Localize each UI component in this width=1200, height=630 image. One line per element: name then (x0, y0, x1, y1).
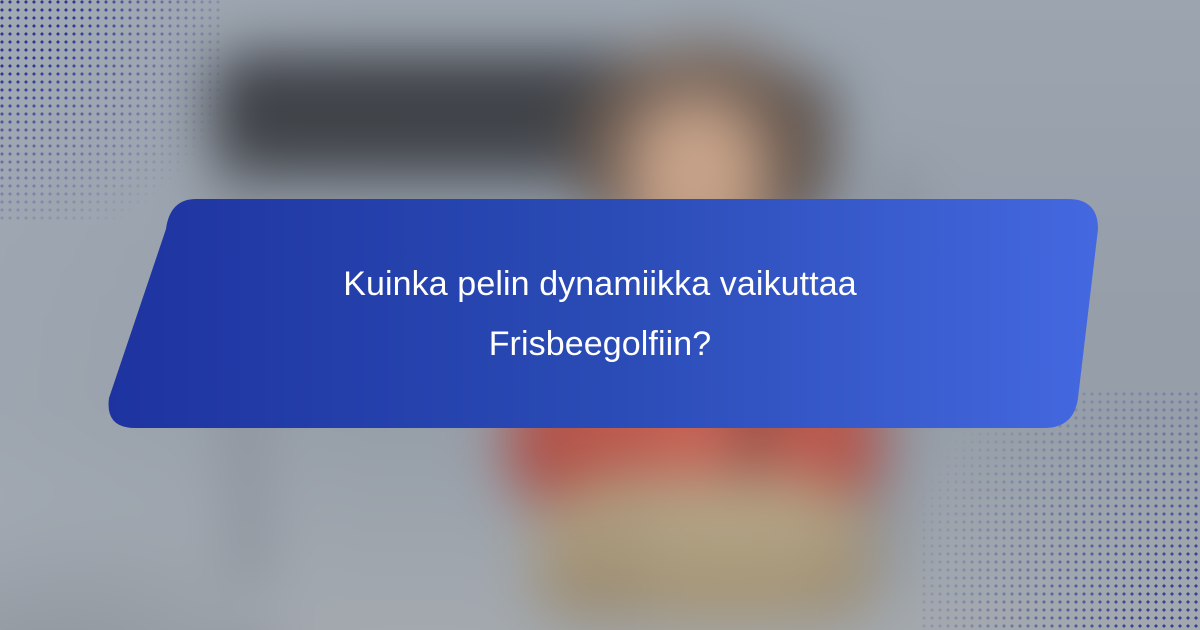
og-card: Kuinka pelin dynamiikka vaikuttaa Frisbe… (0, 0, 1200, 630)
banner-shape (109, 199, 1098, 428)
title-banner (0, 0, 1200, 630)
